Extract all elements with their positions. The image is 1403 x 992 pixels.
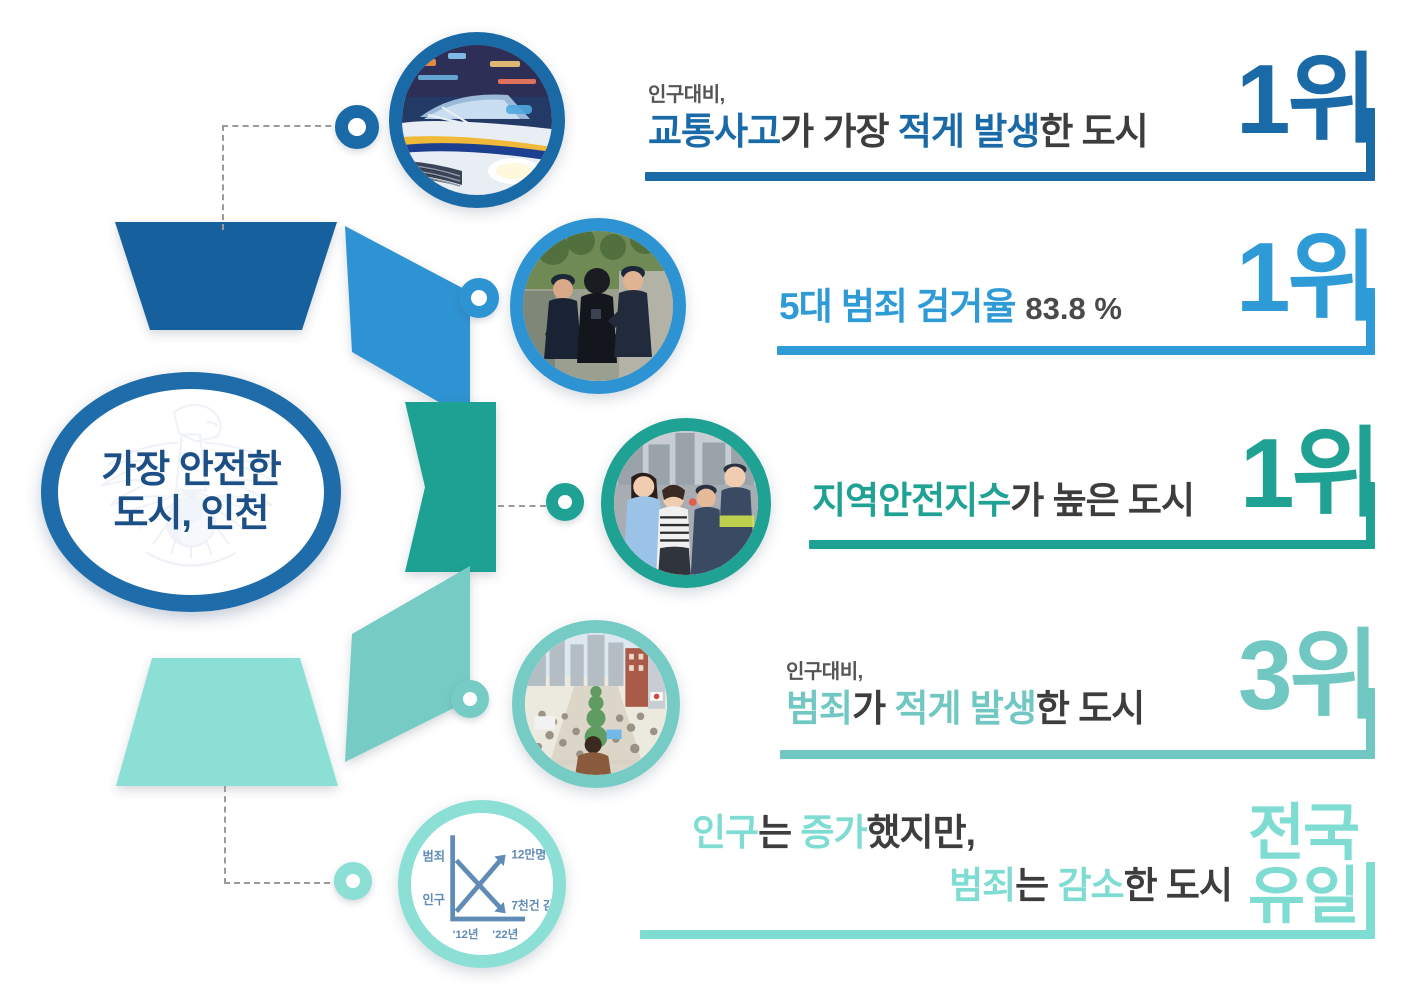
ribbon-top: [115, 222, 337, 330]
row-5-underline-riser: [1366, 862, 1375, 934]
row-1-tail: 한 도시: [1039, 111, 1147, 152]
row-4-rank: 3위: [1238, 630, 1377, 720]
row-4-highlight: 범죄: [786, 688, 852, 729]
dashed-connector-bottom-h: [224, 882, 350, 884]
row-3-tail: 가 높은 도시: [1010, 480, 1194, 521]
connector-ring-2: [459, 278, 499, 318]
row-1-eyebrow: 인구대비,: [648, 78, 1148, 107]
police-officers-arrest-photo-icon: [523, 231, 673, 381]
dashed-connector-mid: [498, 505, 546, 507]
crossing-trend-chart-icon: 범죄 인구 12만명 증가 7천건 감소 '12년 '22년: [411, 813, 553, 955]
row-1-highlight-2: 적게 발생: [898, 111, 1039, 152]
photo-bubble-citizens: [601, 418, 771, 588]
row-5-hl-1c: 증가: [800, 812, 866, 853]
row-3-highlight: 지역안전지수: [812, 480, 1010, 521]
row-2-value: 83.8 %: [1025, 291, 1122, 326]
photo-bubble-officers: [510, 218, 686, 394]
row-2-underline-riser: [1366, 288, 1375, 350]
connector-ring-5: [334, 862, 372, 900]
row-5-rank-line-2: 유일: [1248, 865, 1358, 928]
row-5-rank: 전국 유일: [1248, 802, 1358, 928]
row-3-headline: 지역안전지수가 높은 도시: [812, 480, 1194, 521]
stat-row-3: 지역안전지수가 높은 도시: [812, 480, 1194, 521]
row-5-hl-1d: 했지만,: [867, 812, 975, 853]
badge-line-1: 가장 안전한: [101, 448, 280, 492]
row-5-hl-2d: 한 도시: [1124, 865, 1232, 906]
row-4-underline: [780, 750, 1375, 759]
connector-ring-1: [335, 105, 379, 149]
ribbon-right: [405, 402, 496, 572]
stat-row-2: 5대 범죄 검거율83.8 %: [779, 286, 1122, 327]
row-1-underline: [645, 172, 1375, 181]
row-1-headline: 교통사고가 가장 적게 발생한 도시: [648, 111, 1148, 152]
row-5-hl-1b: 는: [758, 812, 800, 853]
row-5-underline: [640, 930, 1375, 939]
police-car-photo-icon: [402, 45, 552, 195]
row-5-hl-2a: 범죄: [949, 865, 1015, 906]
connector-ring-4: [451, 680, 489, 718]
dashed-connector-top-h: [222, 125, 352, 127]
photo-bubble-police-car: [389, 32, 565, 208]
stat-row-4: 인구대비, 범죄가 적게 발생한 도시: [786, 655, 1144, 729]
row-2-headline: 5대 범죄 검거율83.8 %: [779, 286, 1122, 327]
mini-chart-axis-right: '22년: [492, 927, 518, 941]
row-2-rank: 1위: [1236, 232, 1375, 322]
row-1-underline-riser: [1366, 108, 1375, 176]
row-4-mid: 가: [852, 688, 894, 729]
stat-row-1: 인구대비, 교통사고가 가장 적게 발생한 도시: [648, 78, 1148, 152]
connector-ring-3: [546, 483, 584, 521]
row-5-rank-line-1: 전국: [1248, 802, 1358, 865]
mini-chart-axis-left: '12년: [453, 927, 479, 941]
mini-chart-note-up: 12만명 증가: [511, 847, 553, 861]
row-5-hl-2b: 는: [1015, 865, 1057, 906]
row-1-rank: 1위: [1236, 54, 1375, 144]
row-5-hl-2c: 감소: [1058, 865, 1124, 906]
row-4-underline-riser: [1366, 688, 1375, 754]
row-1-highlight: 교통사고: [648, 111, 780, 152]
row-2-highlight: 5대 범죄 검거율: [779, 286, 1015, 327]
dashed-connector-bottom-v: [224, 786, 226, 884]
photo-bubble-street: [512, 620, 680, 788]
row-4-eyebrow: 인구대비,: [786, 655, 1144, 684]
infographic-canvas: 가장 안전한 도시, 인천: [0, 0, 1403, 992]
center-badge: 가장 안전한 도시, 인천: [41, 372, 341, 612]
badge-line-2: 도시, 인천: [101, 492, 280, 536]
dashed-connector-top-v: [222, 125, 224, 230]
mini-chart-label-bottom: 인구: [422, 892, 445, 907]
row-4-tail: 한 도시: [1036, 688, 1144, 729]
row-3-underline-riser: [1366, 482, 1375, 544]
row-4-headline: 범죄가 적게 발생한 도시: [786, 688, 1144, 729]
crowded-city-street-photo-icon: [525, 633, 667, 775]
mini-chart-label-top: 범죄: [422, 848, 445, 863]
ribbon-bottom: [116, 658, 338, 786]
ribbon-upper-right: [345, 226, 470, 420]
row-1-mid: 가 가장: [780, 111, 898, 152]
medal-graphic: 가장 안전한 도시, 인천: [0, 0, 700, 992]
row-3-underline: [809, 540, 1375, 549]
row-5-hl-1a: 인구: [692, 812, 758, 853]
stat-row-5: 인구는 증가했지만, 범죄는 감소한 도시: [692, 812, 1232, 907]
ribbon-lower-right: [345, 566, 470, 762]
row-5-headline-line1: 인구는 증가했지만,: [692, 812, 1232, 853]
mini-chart-bubble: 범죄 인구 12만명 증가 7천건 감소 '12년 '22년: [398, 800, 566, 968]
mini-chart-note-down: 7천건 감소: [511, 899, 553, 913]
row-4-highlight-2: 적게 발생: [894, 688, 1035, 729]
row-2-underline: [777, 346, 1375, 355]
badge-text: 가장 안전한 도시, 인천: [101, 448, 280, 536]
row-3-rank: 1위: [1240, 428, 1379, 518]
citizens-with-police-photo-icon: [614, 431, 758, 575]
row-5-headline-line2: 범죄는 감소한 도시: [692, 865, 1232, 906]
